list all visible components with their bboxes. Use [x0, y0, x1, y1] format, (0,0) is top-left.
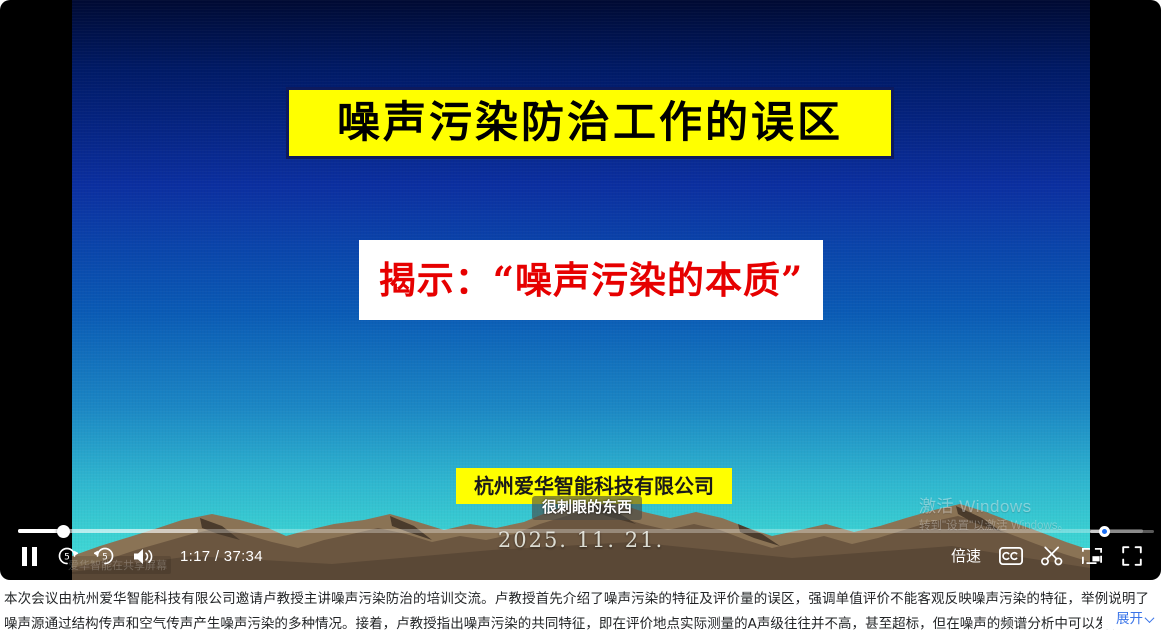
- picture-in-picture-icon: [1081, 547, 1103, 565]
- left-controls[interactable]: 5 5 1:17 / 37:34: [18, 542, 263, 570]
- forward-5-button[interactable]: 5: [94, 543, 116, 569]
- slide-title-box: 噪声污染防治工作的误区: [286, 87, 894, 159]
- volume-handle[interactable]: [1099, 526, 1110, 537]
- windows-activation-title: 激活 Windows: [919, 496, 1069, 517]
- volume-button[interactable]: [132, 543, 154, 569]
- captions-button[interactable]: [999, 543, 1023, 569]
- video-description: 本次会议由杭州爱华智能科技有限公司邀请卢教授主讲噪声污染防治的培训交流。卢教授首…: [0, 583, 1161, 637]
- pause-icon: [21, 547, 38, 566]
- clip-button[interactable]: [1041, 543, 1063, 569]
- cc-icon: [999, 547, 1023, 565]
- pause-button[interactable]: [18, 543, 40, 569]
- slide-company-text: 杭州爱华智能科技有限公司: [474, 476, 714, 496]
- expand-description-button[interactable]: 展开: [1102, 609, 1153, 629]
- playback-speed-button[interactable]: 倍速: [951, 543, 981, 569]
- expand-label: 展开: [1116, 609, 1143, 629]
- right-controls[interactable]: 倍速: [951, 542, 1143, 570]
- chevron-down-icon: [1145, 613, 1155, 623]
- volume-icon: [132, 547, 154, 566]
- player-control-bar[interactable]: 5 5 1:17 / 37:34 倍速: [0, 524, 1161, 580]
- volume-slider[interactable]: [1090, 524, 1160, 538]
- scissors-icon: [1041, 546, 1063, 566]
- slide-canvas: 噪声污染防治工作的误区 揭示：“噪声污染的本质” 杭州爱华智能科技有限公司 20…: [72, 0, 1090, 580]
- picture-in-picture-button[interactable]: [1081, 543, 1103, 569]
- time-display: 1:17 / 37:34: [180, 543, 263, 569]
- forward-5-icon: 5: [94, 545, 116, 567]
- progress-handle[interactable]: [57, 525, 70, 538]
- slide-title-text: 噪声污染防治工作的误区: [337, 102, 843, 145]
- video-player[interactable]: 噪声污染防治工作的误区 揭示：“噪声污染的本质” 杭州爱华智能科技有限公司 20…: [0, 0, 1161, 580]
- rewind-5-button[interactable]: 5: [56, 543, 78, 569]
- danmaku-comment: 很刺眼的东西: [532, 496, 642, 520]
- volume-track[interactable]: [1090, 530, 1154, 533]
- rewind-5-icon: 5: [56, 545, 78, 567]
- progress-track[interactable]: [18, 529, 1143, 533]
- description-text: 本次会议由杭州爱华智能科技有限公司邀请卢教授主讲噪声污染防治的培训交流。卢教授首…: [4, 587, 1149, 637]
- fullscreen-button[interactable]: [1121, 543, 1143, 569]
- svg-text:5: 5: [64, 553, 70, 563]
- progress-bar[interactable]: [18, 524, 1143, 538]
- svg-text:5: 5: [102, 553, 108, 563]
- slide-subtitle-text: 揭示：“噪声污染的本质”: [379, 262, 804, 299]
- slide-subtitle-box: 揭示：“噪声污染的本质”: [359, 240, 823, 320]
- fullscreen-icon: [1122, 546, 1142, 566]
